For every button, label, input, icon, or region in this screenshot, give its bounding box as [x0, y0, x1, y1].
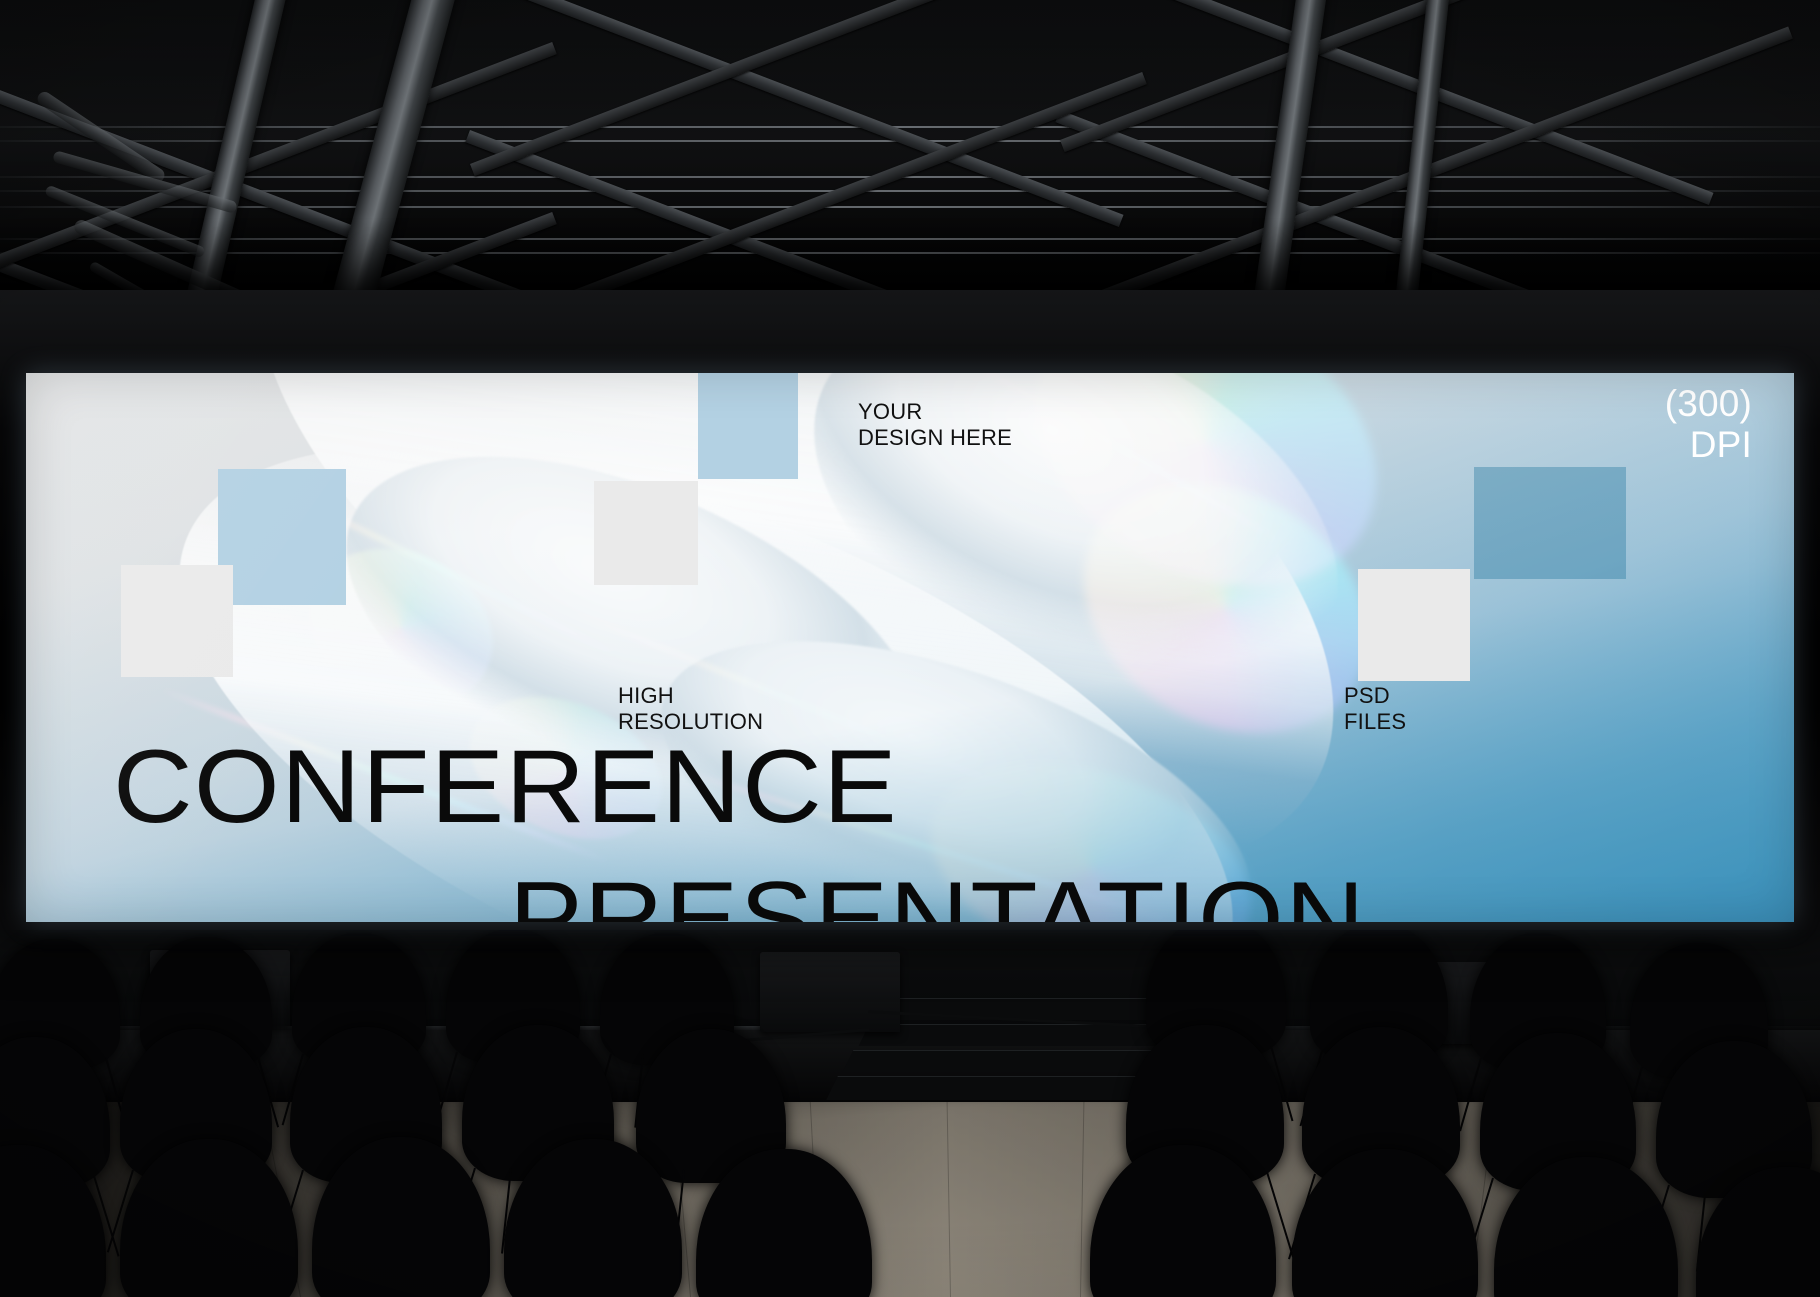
dpi-label: (300) DPI [1665, 383, 1752, 466]
headline-line-1: CONFERENCE [113, 741, 898, 835]
high-resolution-label: HIGH RESOLUTION [618, 683, 763, 734]
presentation-screen-frame: CONFERENCE PRESENTATION MOCKUP YOUR DESI… [0, 290, 1820, 930]
chair [1494, 1157, 1678, 1297]
chair [0, 1145, 106, 1297]
presentation-screen[interactable]: CONFERENCE PRESENTATION MOCKUP YOUR DESI… [26, 373, 1794, 922]
psd-files-label: PSD FILES [1344, 683, 1406, 734]
headline-line-2: PRESENTATION [509, 873, 1366, 922]
ceiling-structure [0, 0, 1820, 340]
accent-block-dark-blue [1474, 467, 1626, 579]
accent-block-blue [218, 469, 346, 605]
chair [1090, 1145, 1276, 1297]
your-design-here-label: YOUR DESIGN HERE [858, 399, 1012, 450]
chair [120, 1139, 298, 1297]
chair [504, 1139, 682, 1297]
accent-block-blue [698, 373, 798, 479]
accent-block-gray [121, 565, 233, 677]
chair [1696, 1167, 1820, 1297]
chair [312, 1137, 490, 1297]
accent-block-gray [594, 481, 698, 585]
chair [1292, 1149, 1478, 1297]
chair [696, 1149, 872, 1297]
accent-block-gray [1358, 569, 1470, 681]
conference-room-scene: CONFERENCE PRESENTATION MOCKUP YOUR DESI… [0, 0, 1820, 1297]
audience-chairs [0, 877, 1820, 1297]
